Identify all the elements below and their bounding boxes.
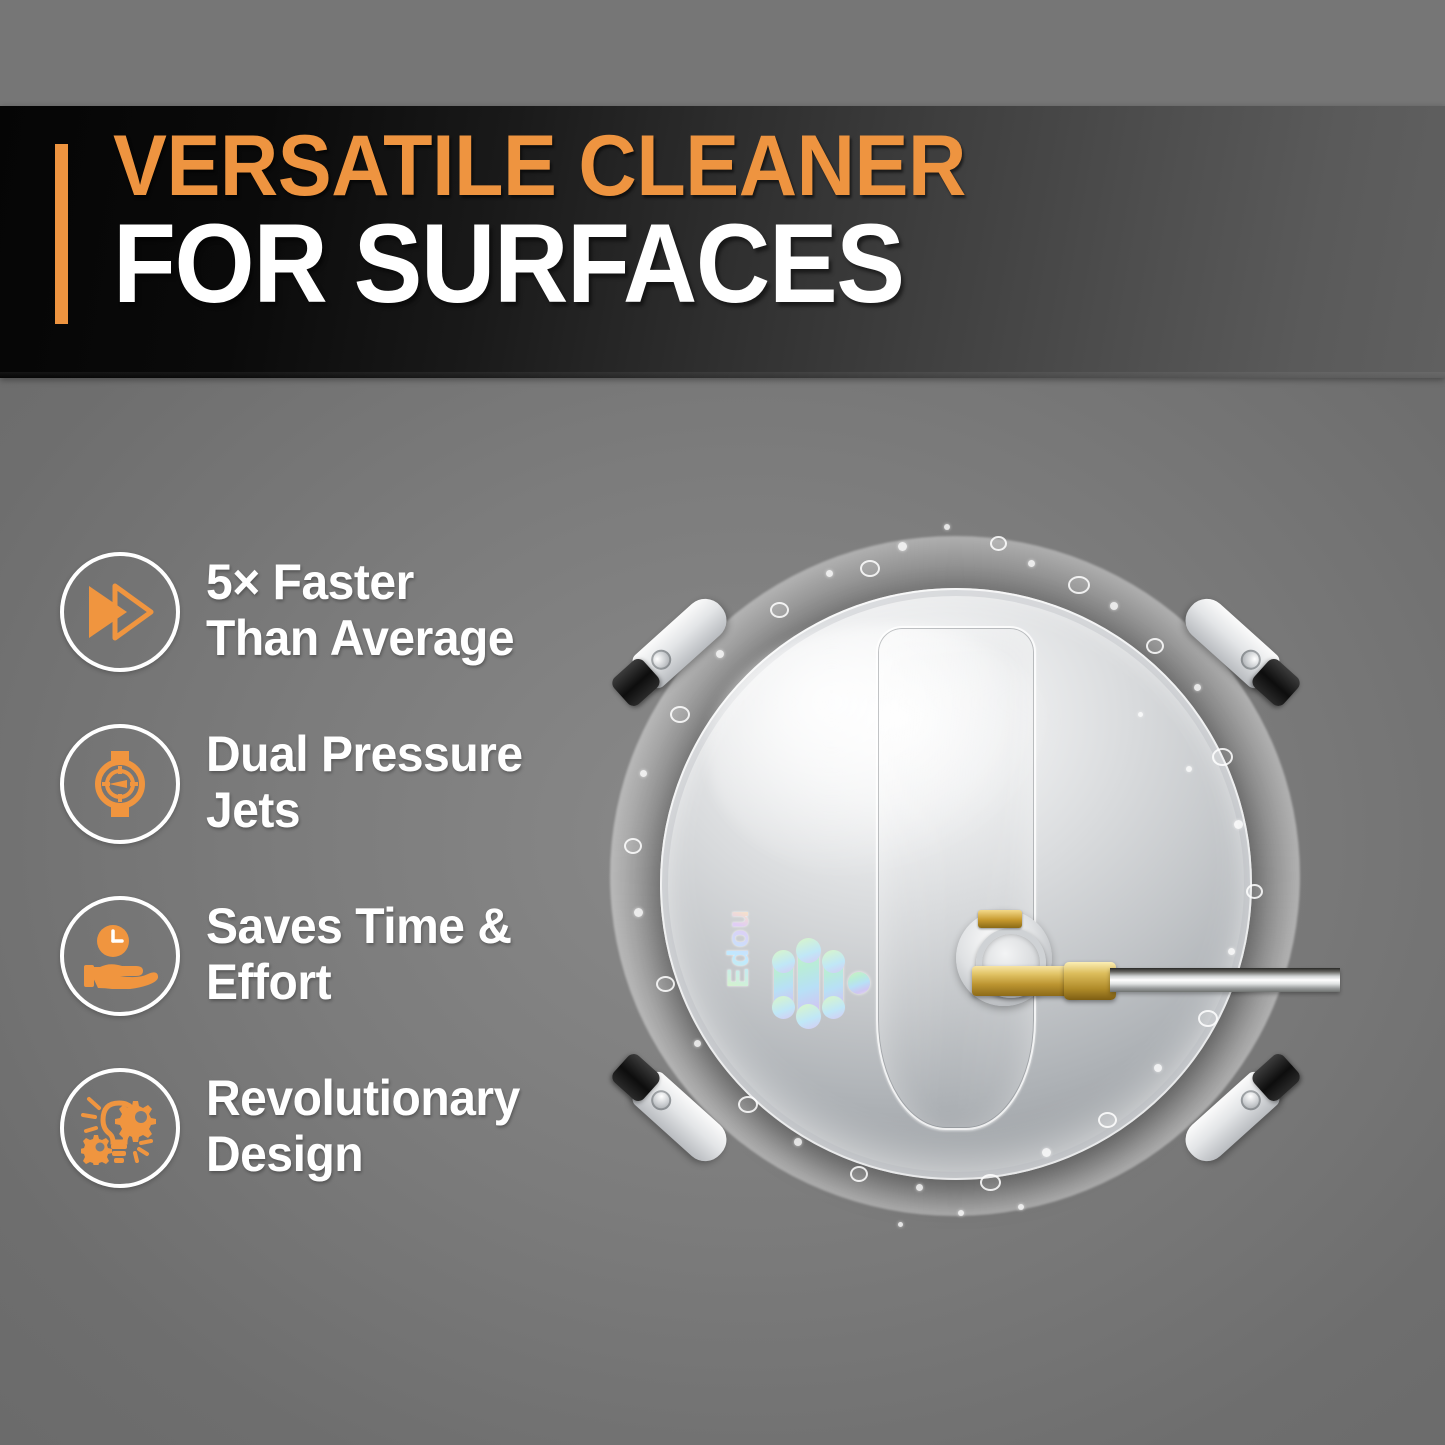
surface-cleaner-disc: Edou — [660, 588, 1252, 1180]
headline-primary: VERSATILE CLEANER — [113, 124, 966, 209]
logo-glyph — [796, 1004, 821, 1029]
feature-label-line2: Effort — [206, 954, 331, 1010]
feature-icon-circle — [60, 896, 180, 1016]
feature-label-line1: 5× Faster — [206, 554, 414, 610]
feature-icon-circle — [60, 724, 180, 844]
feature-icon-circle — [60, 552, 180, 672]
header-banner: VERSATILE CLEANER FOR SURFACES — [0, 106, 1445, 378]
caster-bolt — [647, 1086, 675, 1114]
embossed-center-panel — [876, 626, 1036, 1130]
feature-label: Saves Time & Effort — [206, 896, 512, 1010]
logo-glyph — [796, 938, 821, 963]
feature-item: Dual Pressure Jets — [60, 724, 620, 844]
feature-item: Revolutionary Design — [60, 1068, 620, 1188]
feature-label-line2: Design — [206, 1126, 363, 1182]
logo-glyph — [772, 996, 795, 1019]
orange-accent-bar — [55, 144, 68, 324]
logo-glyph — [772, 950, 795, 973]
feature-icon-circle — [60, 1068, 180, 1188]
top-strip — [0, 0, 1445, 106]
feature-label-line2: Than Average — [206, 610, 514, 666]
brass-coupler-nut — [1064, 962, 1116, 1000]
brass-clamp-top — [978, 910, 1022, 928]
headline-block: VERSATILE CLEANER FOR SURFACES — [113, 124, 1020, 316]
feature-label: Revolutionary Design — [206, 1068, 520, 1182]
feature-label-line1: Dual Pressure — [206, 726, 523, 782]
fast-forward-icon — [85, 582, 155, 642]
feature-list: 5× Faster Than Average — [60, 552, 620, 1188]
logo-glyph — [822, 950, 845, 973]
product-image: Edou — [598, 498, 1318, 1258]
feature-item: 5× Faster Than Average — [60, 552, 620, 672]
headline-secondary: FOR SURFACES — [113, 211, 948, 316]
feature-label-line2: Jets — [206, 782, 300, 838]
logo-glyph — [822, 996, 845, 1019]
lightbulb-gears-icon — [81, 1091, 159, 1165]
feature-label: Dual Pressure Jets — [206, 724, 523, 838]
brand-name: Edou — [722, 909, 756, 988]
feature-label-line1: Saves Time & — [206, 898, 512, 954]
steel-lance — [1110, 968, 1340, 992]
hand-holding-clock-icon — [82, 923, 158, 989]
brand-logo: Edou — [718, 928, 878, 1048]
product-marketing-image: VERSATILE CLEANER FOR SURFACES 5× Faster… — [0, 0, 1445, 1445]
pressure-gauge-icon — [87, 749, 153, 819]
feature-label: 5× Faster Than Average — [206, 552, 514, 666]
logo-glyph-dot — [848, 972, 870, 994]
feature-label-line1: Revolutionary — [206, 1070, 520, 1126]
feature-item: Saves Time & Effort — [60, 896, 620, 1016]
